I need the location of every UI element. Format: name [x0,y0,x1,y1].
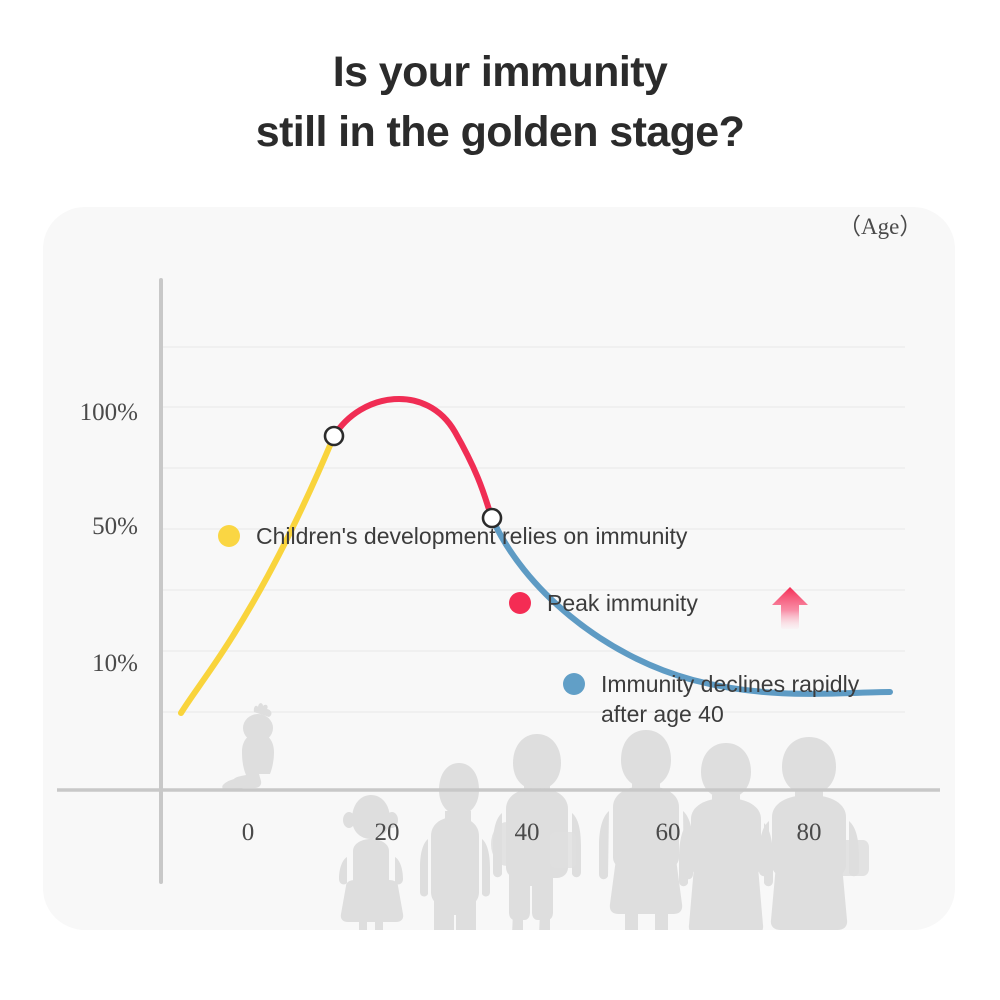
marker-peak-start[interactable] [325,427,343,445]
y-tick-100: 100% [38,399,138,427]
silhouette-young-girl [339,795,403,930]
legend-dot-red-icon [509,592,531,614]
immunity-curve [181,399,890,713]
x-tick-60: 60 [628,819,708,847]
legend-dot-yellow-icon [218,525,240,547]
x-axis-unit-label: （Age） [838,207,922,241]
curve-segment-growth [181,436,334,713]
y-tick-50: 50% [38,513,138,541]
page-title: Is your immunity still in the golden sta… [0,42,1000,162]
chart-card: 100% 50% 10% 0 20 40 60 80 （Age） Childre… [43,207,955,930]
y-tick-10: 10% [38,650,138,678]
silhouette-baby-sitting [222,703,274,790]
x-tick-0: 0 [208,819,288,847]
legend-label-decline: Immunity declines rapidly after age 40 [601,669,859,729]
legend-item-children[interactable]: Children's development relies on immunit… [218,521,687,551]
title-line-2: still in the golden stage? [0,102,1000,162]
x-tick-40: 40 [487,819,567,847]
legend-label-peak: Peak immunity [547,588,698,618]
plot-area: 100% 50% 10% 0 20 40 60 80 （Age） Childre… [43,207,955,930]
legend-item-peak[interactable]: Peak immunity [509,588,698,618]
curve-segment-peak [334,399,492,518]
legend-label-children: Children's development relies on immunit… [256,521,687,551]
legend-item-decline[interactable]: Immunity declines rapidly after age 40 [563,669,859,729]
x-tick-20: 20 [347,819,427,847]
title-line-1: Is your immunity [0,42,1000,102]
silhouette-group [222,703,869,930]
up-arrow-icon [771,585,809,629]
x-tick-80: 80 [769,819,849,847]
silhouette-teenager [420,763,490,930]
legend-dot-blue-icon [563,673,585,695]
